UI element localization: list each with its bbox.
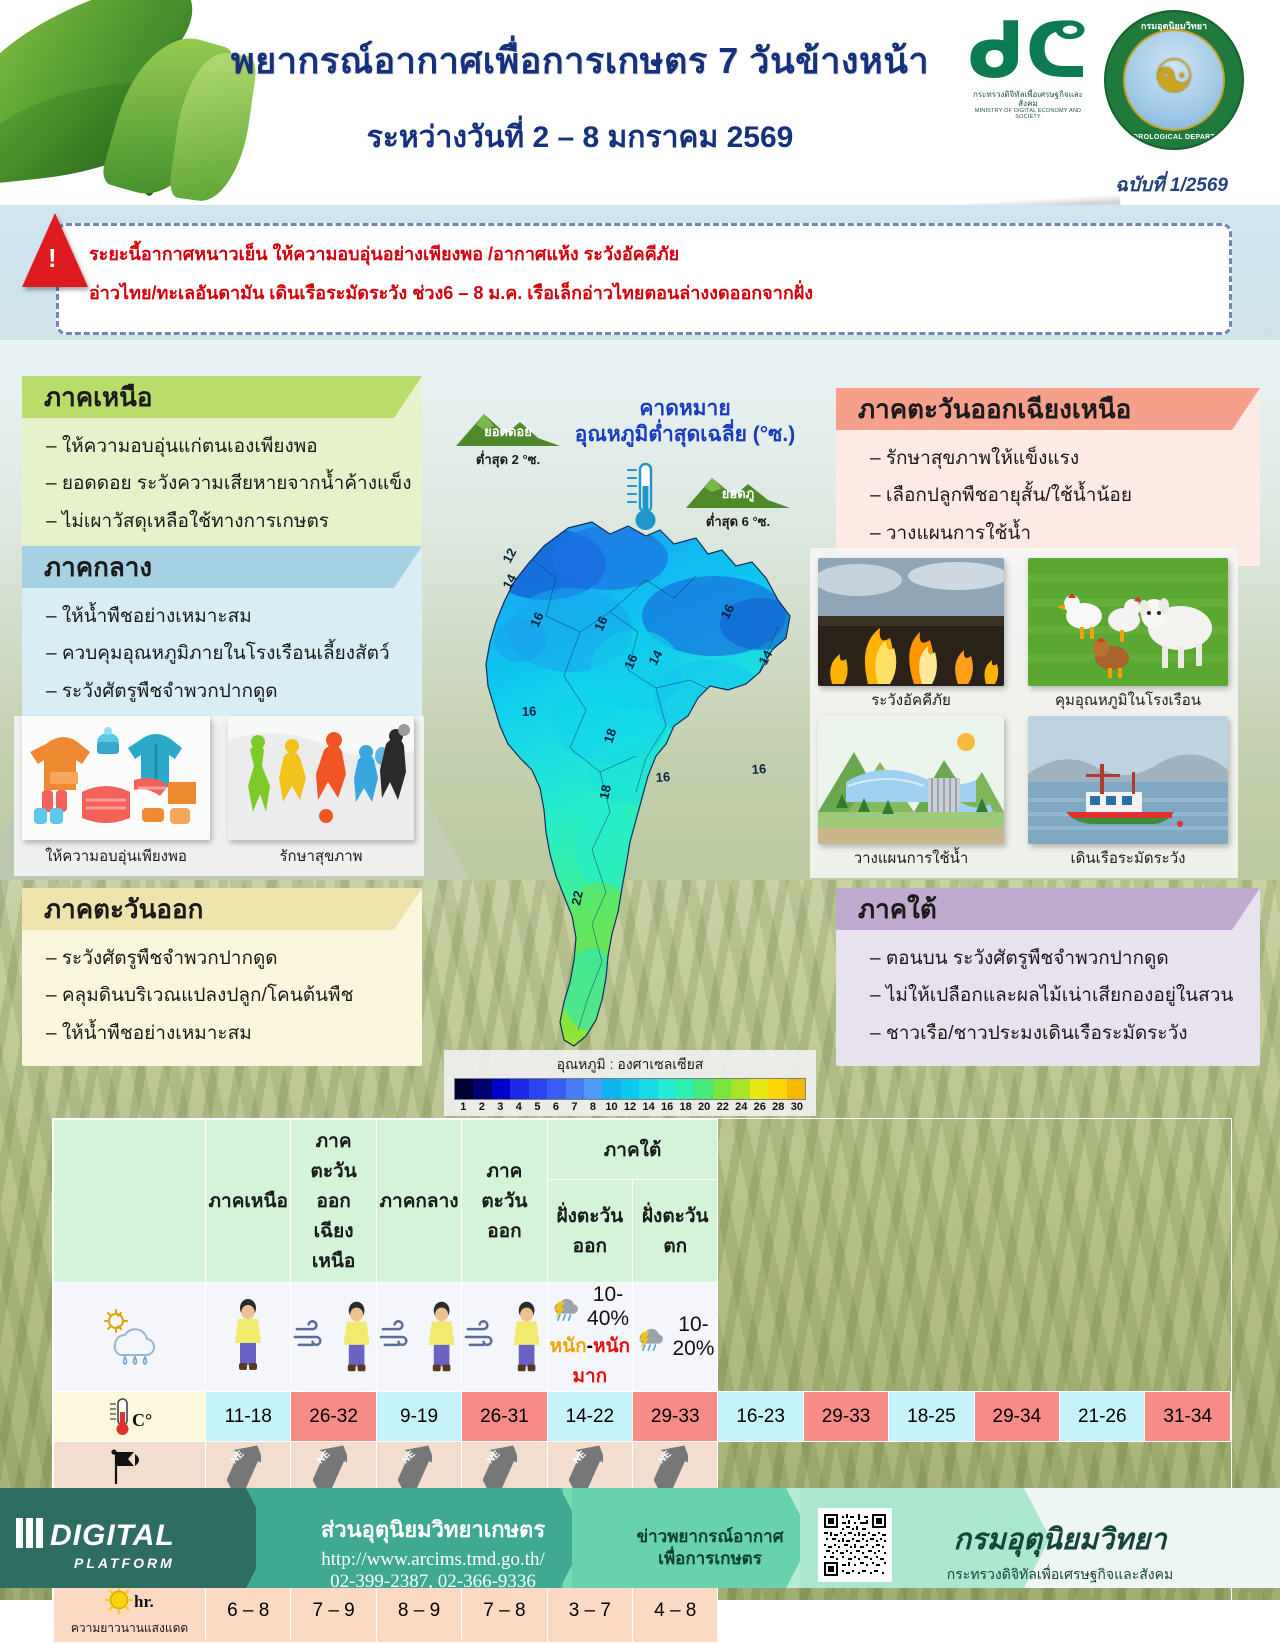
contour-label: 22 xyxy=(568,889,586,906)
col-header-south-group: ภาคใต้ xyxy=(547,1120,718,1180)
region-panel-north: ภาคเหนือ – ให้ความอบอุ่นแก่ตนเองเพียงพอ … xyxy=(22,376,422,554)
page-subtitle-date-range: ระหว่างวันที่ 2 – 8 มกราคม 2569 xyxy=(180,114,980,161)
legend-tick: 10 xyxy=(602,1101,621,1113)
warm-clothes-illustration xyxy=(22,716,210,840)
wind-icon xyxy=(377,1317,416,1357)
col-header-south-east-coast: ฝั่งตะวันออก xyxy=(547,1180,632,1283)
bullet: – ไม่ให้เปลือกและผลไม้เน่าเสียกองอยู่ในส… xyxy=(856,977,1240,1014)
map-title-line1: คาดหมาย xyxy=(550,396,820,422)
rain-chance-south-east: 10-40% xyxy=(584,1283,632,1331)
digital-platform-logo: DIGITAL PLATFORM xyxy=(16,1518,175,1571)
sheep-chickens-illustration xyxy=(1028,558,1228,686)
legend-tick: 7 xyxy=(565,1101,584,1113)
contour-label: 12 xyxy=(499,546,519,566)
contour-label: 18 xyxy=(596,783,614,800)
legend-color-bar xyxy=(454,1078,806,1100)
legend-swatch-28 xyxy=(768,1079,786,1099)
legend-swatch-30 xyxy=(787,1079,805,1099)
col-header-north: ภาคเหนือ xyxy=(206,1120,291,1283)
legend-swatch-16 xyxy=(658,1079,676,1099)
legend-tick: 5 xyxy=(528,1101,547,1113)
wind-icon xyxy=(291,1317,330,1357)
cold-person-icon xyxy=(507,1299,546,1375)
photo-caption: ให้ความอบอุ่นเพียงพอ xyxy=(22,844,210,868)
temp-min-south-west: 21-26 xyxy=(1060,1392,1145,1442)
bullet: – ไม่เผาวัสดุเหลือใช้ทางการเกษตร xyxy=(42,503,402,540)
thunderstorm-icon xyxy=(633,1315,663,1359)
temp-min-east: 16-23 xyxy=(718,1392,803,1442)
bullet: – ระวังศัตรูพืชจำพวกปากดูด xyxy=(42,940,402,977)
photo-caption: คุมอุณหภูมิในโรงเรือน xyxy=(1028,688,1228,712)
bullet: – ให้น้ำพืชอย่างเหมาะสม xyxy=(42,1015,402,1052)
legend-tick: 4 xyxy=(510,1101,529,1113)
col-header-east: ภาคตะวันออก xyxy=(462,1120,547,1283)
sports-silhouettes-illustration xyxy=(228,716,414,840)
weather-cell-north xyxy=(206,1283,291,1392)
dam-reservoir-illustration xyxy=(818,716,1004,844)
bullet: – รักษาสุขภาพให้แข็งแรง xyxy=(856,440,1240,477)
bullet: – เลือกปลูกพืชอายุสั้น/ใช้น้ำน้อย xyxy=(856,477,1240,514)
legend-swatch-8 xyxy=(584,1079,602,1099)
svg-text:C°: C° xyxy=(132,1410,152,1430)
legend-tick: 16 xyxy=(658,1101,677,1113)
photo-health-sports: รักษาสุขภาพ xyxy=(228,716,414,840)
thailand-temperature-map: 12 14 16 16 16 14 16 14 16 18 18 16 16 2… xyxy=(460,520,810,1080)
alert-banner: ระยะนี้อากาศหนาวเย็น ให้ความอบอุ่นอย่างเ… xyxy=(0,205,1280,355)
region-title-east: ภาคตะวันออก xyxy=(22,888,422,930)
region-bullets-central: – ให้น้ำพืชอย่างเหมาะสม – ควบคุมอุณหภูมิ… xyxy=(22,588,422,724)
issue-number: ฉบับที่ 1/2569 xyxy=(1115,170,1228,200)
legend-tick: 28 xyxy=(769,1101,788,1113)
department-subtitle: กระทรวงดิจิทัลเพื่อเศรษฐกิจและสังคม xyxy=(870,1564,1250,1586)
temp-max-north: 26-32 xyxy=(291,1392,376,1442)
agmet-title: ส่วนอุตุนิยมวิทยาเกษตร xyxy=(268,1512,598,1547)
legend-swatch-26 xyxy=(750,1079,768,1099)
thermometer-icon: C° xyxy=(102,1396,158,1436)
cold-person-icon xyxy=(337,1299,376,1375)
legend-tick: 2 xyxy=(473,1101,492,1113)
temp-min-northeast: 9-19 xyxy=(376,1392,461,1442)
region-title-central: ภาคกลาง xyxy=(22,546,422,588)
leaf-illustration xyxy=(0,0,330,205)
legend-swatch-7 xyxy=(566,1079,584,1099)
photo-dam-water: วางแผนการใช้น้ำ xyxy=(818,716,1004,844)
peak-label: ยอดภู xyxy=(682,483,794,504)
legend-swatch-2 xyxy=(473,1079,491,1099)
legend-tick: 1 xyxy=(454,1101,473,1113)
photo-caption: เดินเรือระมัดระวัง xyxy=(1028,846,1228,870)
page-footer: DIGITAL PLATFORM ส่วนอุตุนิยมวิทยาเกษตร … xyxy=(0,1474,1280,1600)
bullet: – ชาวเรือ/ชาวประมงเดินเรือระมัดระวัง xyxy=(856,1015,1240,1052)
mdes-logo: ᑯᕦ กระทรวงดิจิทัลเพื่อเศรษฐกิจและสังคม M… xyxy=(964,16,1092,120)
region-panel-central: ภาคกลาง – ให้น้ำพืชอย่างเหมาะสม – ควบคุม… xyxy=(22,546,422,724)
severity-heavy: หนัก xyxy=(550,1336,587,1357)
contour-label: 16 xyxy=(522,704,537,719)
row-icon-weather xyxy=(54,1283,206,1392)
wind-icon xyxy=(462,1317,501,1357)
tmd-seal-logo: กรมอุตุนิยมวิทยา ☯ METEOROLOGICAL DEPART… xyxy=(1104,10,1244,150)
cold-person-icon xyxy=(422,1299,461,1375)
warning-exclamation-icon: ! xyxy=(48,243,57,274)
bullet: – ให้ความอบอุ่นแก่ตนเองเพียงพอ xyxy=(42,428,402,465)
fishing-boat-illustration xyxy=(1028,716,1228,844)
page-header: พยากรณ์อากาศเพื่อการเกษตร 7 วันข้างหน้า … xyxy=(0,0,1280,205)
legend-tick: 20 xyxy=(695,1101,714,1113)
agmet-phone: 02-399-2387, 02-366-9336 xyxy=(268,1571,598,1593)
thunderstorm-icon xyxy=(548,1285,578,1329)
legend-swatch-3 xyxy=(492,1079,510,1099)
table-header-row-1: ภาคเหนือ ภาคตะวันออก เฉียงเหนือ ภาคกลาง … xyxy=(54,1120,1231,1180)
contour-label: 16 xyxy=(655,769,670,785)
digital-word: DIGITAL xyxy=(50,1519,175,1553)
col-header-northeast-line2: เฉียงเหนือ xyxy=(293,1216,373,1276)
photo-fire: ระวังอัคคีภัย xyxy=(818,558,1004,686)
mdes-logo-glyph: ᑯᕦ xyxy=(964,16,1092,88)
field-fire-illustration xyxy=(818,558,1004,686)
legend-tick: 3 xyxy=(491,1101,510,1113)
table-corner-cell xyxy=(54,1120,206,1283)
contour-label: 16 xyxy=(751,761,766,777)
logo-bars-icon xyxy=(16,1518,46,1553)
temp-min-north: 11-18 xyxy=(206,1392,291,1442)
legend-tick: 12 xyxy=(621,1101,640,1113)
bullet: – ตอนบน ระวังศัตรูพืชจำพวกปากดูด xyxy=(856,940,1240,977)
region-title-northeast: ภาคตะวันออกเฉียงเหนือ xyxy=(836,388,1260,430)
region-title-south: ภาคใต้ xyxy=(836,888,1260,930)
legend-swatch-5 xyxy=(529,1079,547,1099)
temp-max-south-west: 31-34 xyxy=(1145,1392,1231,1442)
alert-box: ระยะนี้อากาศหนาวเย็น ให้ความอบอุ่นอย่างเ… xyxy=(56,223,1232,335)
weather-cell-south-west-coast: 10-20% xyxy=(633,1283,718,1392)
legend-tick-labels: 123456781012141618202224262830 xyxy=(454,1101,806,1113)
photo-boat: เดินเรือระมัดระวัง xyxy=(1028,716,1228,844)
region-title-north: ภาคเหนือ xyxy=(22,376,422,418)
bullet: – ให้น้ำพืชอย่างเหมาะสม xyxy=(42,598,402,635)
bullet: – ควบคุมอุณหภูมิภายในโรงเรือนเลี้ยงสัตว์ xyxy=(42,635,402,672)
tmd-seal-bottom-text: METEOROLOGICAL DEPARTMENT xyxy=(1106,134,1242,141)
col-header-central: ภาคกลาง xyxy=(376,1120,461,1283)
legend-swatch-20 xyxy=(694,1079,712,1099)
table-row-weather: 10-40% หนัก-หนักมาก xyxy=(54,1283,1231,1392)
legend-swatch-1 xyxy=(455,1079,473,1099)
weather-cell-northeast xyxy=(291,1283,376,1392)
legend-tick: 26 xyxy=(751,1101,770,1113)
news-line-1: ข่าวพยากรณ์อากาศ xyxy=(620,1526,800,1548)
legend-swatch-4 xyxy=(510,1079,528,1099)
legend-swatch-12 xyxy=(621,1079,639,1099)
temp-min-central: 14-22 xyxy=(547,1392,632,1442)
news-line-2: เพื่อการเกษตร xyxy=(620,1548,800,1570)
mountain-icon: ยอดดอย xyxy=(452,408,564,448)
photo-caption: วางแผนการใช้น้ำ xyxy=(818,846,1004,870)
alert-line-2: อ่าวไทย/ทะเลอันดามัน เดินเรือระมัดระวัง … xyxy=(89,281,1199,306)
rain-severity-south-east: หนัก-หนักมาก xyxy=(548,1331,632,1391)
col-header-south-west-coast: ฝั่งตะวันตก xyxy=(633,1180,718,1283)
weather-cell-central xyxy=(376,1283,461,1392)
temp-max-central: 29-33 xyxy=(633,1392,718,1442)
rain-chance-south-west: 10-20% xyxy=(670,1313,718,1361)
agmet-url[interactable]: http://www.arcims.tmd.go.th/ xyxy=(268,1549,598,1571)
mountain-icon: ยอดภู xyxy=(682,470,794,510)
tmd-seal-deity-icon: ☯ xyxy=(1153,49,1194,103)
temp-min-south-east: 18-25 xyxy=(889,1392,974,1442)
legend-swatch-10 xyxy=(602,1079,620,1099)
legend-tick: 18 xyxy=(676,1101,695,1113)
col-header-northeast: ภาคตะวันออก เฉียงเหนือ xyxy=(291,1120,376,1283)
region-panel-south: ภาคใต้ – ตอนบน ระวังศัตรูพืชจำพวกปากดูด … xyxy=(836,888,1260,1066)
region-bullets-northeast: – รักษาสุขภาพให้แข็งแรง – เลือกปลูกพืชอา… xyxy=(836,430,1260,566)
legend-tick: 30 xyxy=(788,1101,807,1113)
bullet: – คลุมดินบริเวณแปลงปลูก/โคนต้นพืช xyxy=(42,977,402,1014)
legend-tick: 14 xyxy=(639,1101,658,1113)
peak-label: ยอดดอย xyxy=(452,421,564,442)
photo-caption: รักษาสุขภาพ xyxy=(228,844,414,868)
tmd-seal-inner: ☯ xyxy=(1123,29,1225,131)
agmet-contact-block: ส่วนอุตุนิยมวิทยาเกษตร http://www.arcims… xyxy=(268,1512,598,1593)
temperature-map-area: คาดหมาย อุณหภูมิต่ำสุดเฉลี่ย (°ซ.) ยอดดอ… xyxy=(430,380,830,1080)
peak-sublabel: ต่ำสุด 2 °ซ. xyxy=(452,449,564,470)
photo-caption: ระวังอัคคีภัย xyxy=(818,688,1004,712)
platform-word: PLATFORM xyxy=(16,1555,175,1571)
legend-tick: 24 xyxy=(732,1101,751,1113)
alert-line-1: ระยะนี้อากาศหนาวเย็น ให้ความอบอุ่นอย่างเ… xyxy=(89,242,1199,267)
weather-cell-east xyxy=(462,1283,547,1392)
weather-cell-south-east-coast: 10-40% หนัก-หนักมาก xyxy=(547,1283,632,1392)
page-title: พยากรณ์อากาศเพื่อการเกษตร 7 วันข้างหน้า xyxy=(180,32,980,89)
news-label-block: ข่าวพยากรณ์อากาศ เพื่อการเกษตร xyxy=(620,1526,800,1570)
legend-swatch-6 xyxy=(547,1079,565,1099)
legend-swatch-24 xyxy=(731,1079,749,1099)
legend-tick: 6 xyxy=(547,1101,566,1113)
mdes-logo-caption-th: กระทรวงดิจิทัลเพื่อเศรษฐกิจและสังคม xyxy=(964,90,1092,108)
peak-chip-doi: ยอดดอย ต่ำสุด 2 °ซ. xyxy=(452,408,564,470)
photo-barn-animals: คุมอุณหภูมิในโรงเรือน xyxy=(1028,558,1228,686)
mdes-logo-caption-en: MINISTRY OF DIGITAL ECONOMY AND SOCIETY xyxy=(964,108,1092,120)
legend-tick: 22 xyxy=(713,1101,732,1113)
table-row-temperature: C° 11-18 26-32 9-19 26-31 14-22 29-33 16… xyxy=(54,1392,1231,1442)
map-title: คาดหมาย อุณหภูมิต่ำสุดเฉลี่ย (°ซ.) xyxy=(550,396,820,449)
temp-max-northeast: 26-31 xyxy=(462,1392,547,1442)
legend-swatch-14 xyxy=(639,1079,657,1099)
bullet: – วางแผนการใช้น้ำ xyxy=(856,515,1240,552)
row-icon-temperature: C° xyxy=(54,1392,206,1442)
map-title-line2: อุณหภูมิต่ำสุดเฉลี่ย (°ซ.) xyxy=(550,422,820,448)
cold-person-icon xyxy=(228,1297,268,1373)
region-panel-east: ภาคตะวันออก – ระวังศัตรูพืชจำพวกปากดูด –… xyxy=(22,888,422,1066)
region-panel-northeast: ภาคตะวันออกเฉียงเหนือ – รักษาสุขภาพให้แข… xyxy=(836,388,1260,566)
temp-max-east: 29-33 xyxy=(803,1392,888,1442)
department-title: กรมอุตุนิยมวิทยา xyxy=(870,1516,1250,1562)
bullet: – ระวังศัตรูพืชจำพวกปากดูด xyxy=(42,673,402,710)
sunshine-label: ความยาวนานแสงแดด xyxy=(71,1621,188,1635)
legend-swatch-18 xyxy=(676,1079,694,1099)
region-bullets-east: – ระวังศัตรูพืชจำพวกปากดูด – คลุมดินบริเ… xyxy=(22,930,422,1066)
legend-tick: 8 xyxy=(584,1101,603,1113)
temp-max-south-east: 29-34 xyxy=(974,1392,1059,1442)
photo-warm-clothes: ให้ความอบอุ่นเพียงพอ xyxy=(22,716,210,840)
bullet: – ยอดดอย ระวังความเสียหายจากน้ำค้างแข็ง xyxy=(42,465,402,502)
department-block: กรมอุตุนิยมวิทยา กระทรวงดิจิทัลเพื่อเศรษ… xyxy=(870,1516,1250,1586)
temperature-color-legend: อุณหภูมิ : องศาเซลเซียส 1234567810121416… xyxy=(444,1050,816,1116)
legend-swatch-22 xyxy=(713,1079,731,1099)
col-header-northeast-line1: ภาคตะวันออก xyxy=(293,1126,373,1216)
sun-cloud-rain-icon xyxy=(99,1309,161,1365)
region-bullets-south: – ตอนบน ระวังศัตรูพืชจำพวกปากดูด – ไม่ให… xyxy=(836,930,1260,1066)
region-bullets-north: – ให้ความอบอุ่นแก่ตนเองเพียงพอ – ยอดดอย … xyxy=(22,418,422,554)
legend-title: อุณหภูมิ : องศาเซลเซียส xyxy=(454,1054,806,1076)
